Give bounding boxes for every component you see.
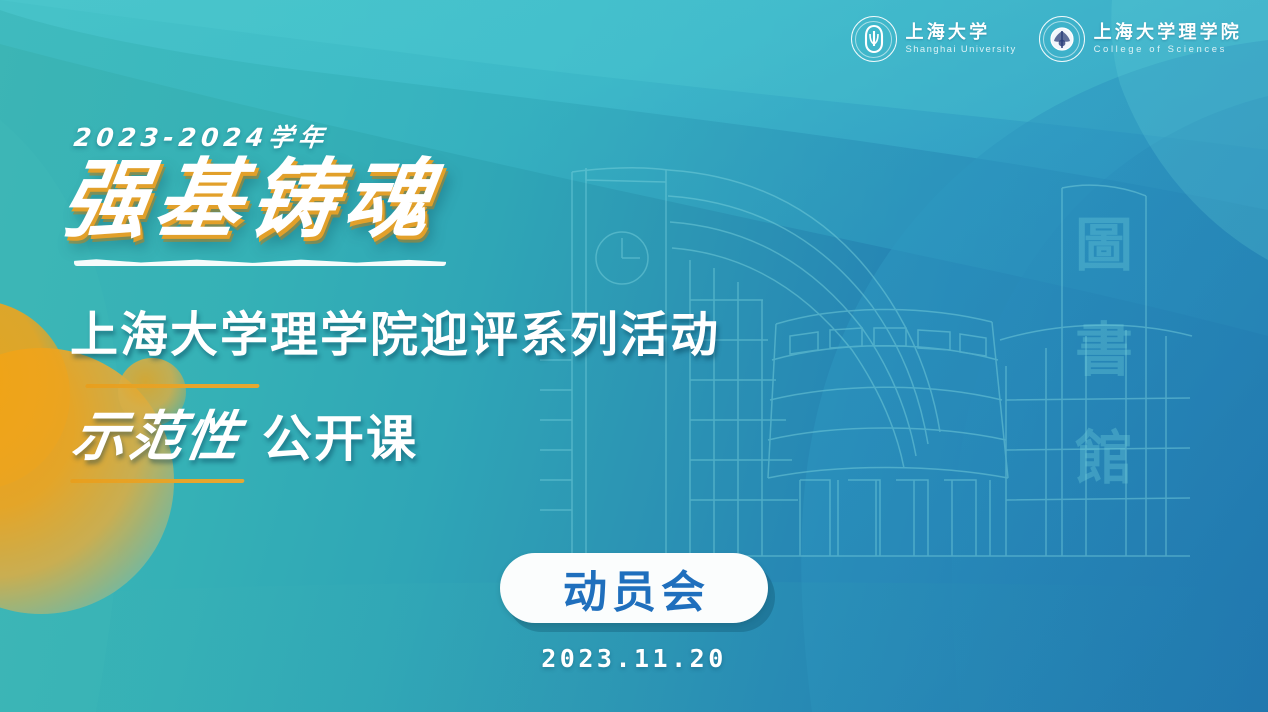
badge-label: 动员会 — [558, 556, 710, 620]
svg-text:館: 館 — [1075, 424, 1133, 492]
event-date: 2023.11.20 — [541, 644, 727, 673]
college-of-sciences-seal-icon — [1039, 16, 1085, 62]
shanghai-university-seal-icon — [851, 16, 897, 62]
logo-name-en: Shanghai University — [906, 45, 1017, 55]
logo-text-group: 上海大学 Shanghai University — [906, 23, 1017, 55]
event-series-title: 上海大学理学院迎评系列活动 — [70, 295, 720, 365]
logo-shanghai-university: 上海大学 Shanghai University — [851, 16, 1017, 62]
academic-year-label: 2023-2024学年 — [72, 118, 330, 154]
svg-text:書: 書 — [1075, 316, 1133, 384]
logo-college-of-sciences: 上海大学理学院 College of Sciences — [1039, 16, 1242, 62]
logo-name-cn: 上海大学 — [906, 23, 1017, 41]
slogan-brush-underline — [74, 259, 446, 266]
subtitle-row: 示范性 公开课 — [70, 388, 418, 477]
slogan-block: 强基铸魂 — [62, 155, 482, 266]
poster-canvas: 圖 書 館 上海大学 Shanghai University — [0, 0, 1268, 712]
logo-text-group: 上海大学理学院 College of Sciences — [1094, 23, 1242, 55]
subtitle-emphasis: 示范性 — [63, 388, 253, 477]
svg-text:圖: 圖 — [1075, 211, 1133, 279]
slogan-title: 强基铸魂 — [56, 155, 489, 245]
main-content: 2023-2024学年 强基铸魂 上海大学理学院迎评系列活动 示范性 公开课 — [0, 0, 980, 712]
subtitle-rest: 公开课 — [262, 399, 418, 477]
logo-name-cn: 上海大学理学院 — [1094, 23, 1242, 41]
meeting-type-badge: 动员会 — [500, 553, 768, 623]
logo-name-en: College of Sciences — [1094, 45, 1242, 55]
header-logos: 上海大学 Shanghai University 上海大学理学院 College… — [851, 16, 1243, 62]
